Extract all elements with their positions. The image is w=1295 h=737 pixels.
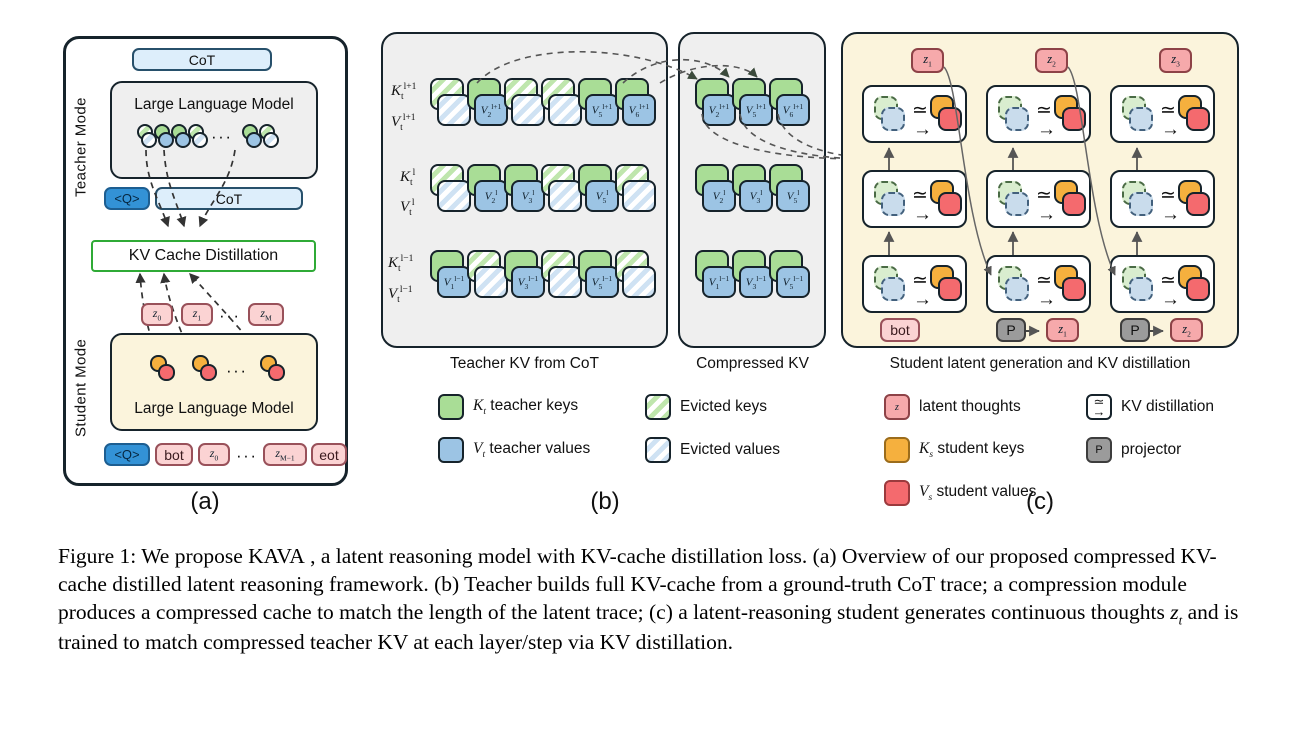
bottom-latent-z0[interactable]: z0 (198, 443, 230, 466)
bot-token-chip[interactable]: bot (155, 443, 193, 466)
teacher-mode-label: Teacher Mode (70, 60, 92, 235)
figure-caption-model-name: KAVA (248, 544, 305, 568)
teacher-value-2 (474, 266, 508, 298)
teacher-row-l: V2l V3l V5l (430, 164, 660, 219)
mini-value-evicted (263, 132, 279, 148)
student-kv-ellipsis: ··· (226, 361, 247, 381)
legend-label-evicted-values: Evicted values (680, 441, 780, 459)
figure-caption-prefix: Figure 1: (58, 544, 136, 568)
compressed-value-5: V5l (776, 180, 810, 212)
legend-swatch-kv-distillation: ≃→ (1086, 394, 1112, 420)
student-mode-label: Student Mode (70, 300, 92, 475)
latent-chip-z1-label: z1 (193, 306, 201, 322)
kv-cache-distillation-label: KV Cache Distillation (129, 247, 278, 265)
legend-swatch-student-values (884, 480, 910, 506)
legend-evicted-values: Evicted values (645, 437, 780, 463)
legend-label-latent-thoughts: latent thoughts (919, 398, 1021, 416)
teacher-llm-title: Large Language Model (110, 96, 318, 114)
student-kv-minirow: ··· (150, 355, 300, 387)
teacher-value-3-label: V3l−1 (518, 274, 539, 291)
legend-label-student-values: Vs student values (919, 483, 1036, 503)
teacher-value-1-label: V1l−1 (444, 274, 465, 291)
legend-swatch-projector: P (1086, 437, 1112, 463)
legend-teacher-keys: Kt teacher keys (438, 394, 578, 420)
compressed-value-5-label: V5l (787, 188, 800, 205)
compressed-value-3: V3l−1 (739, 266, 773, 298)
compressed-value-5: V5l−1 (776, 266, 810, 298)
legend-projector-glyph: P (1095, 444, 1102, 456)
legend-label-teacher-keys: Kt teacher keys (473, 397, 578, 417)
bottom-latent-z0-label: z0 (210, 446, 218, 462)
axis-label-k-lplus1: Ktl+1 (391, 82, 416, 102)
legend-swatch-evicted-values (645, 437, 671, 463)
legend-swatch-teacher-keys (438, 394, 464, 420)
panel-b-letter: (b) (550, 488, 660, 516)
legend-label-projector: projector (1121, 441, 1181, 459)
projector-1-label: P (1006, 322, 1015, 338)
teacher-value-5-label: V5l (596, 188, 609, 205)
compressed-row-lminus1: V1l−1 V3l−1 V5l−1 (695, 250, 815, 305)
cot-top-chip[interactable]: CoT (132, 48, 272, 71)
legend-label-kv-distillation: KV distillation (1121, 398, 1214, 416)
teacher-value-1: V1l−1 (437, 266, 471, 298)
axis-label-v-lplus1: Vtl+1 (391, 113, 416, 133)
axis-label-v-lminus1: Vtl−1 (388, 285, 413, 305)
bottom-latent-zM1[interactable]: zM−1 (263, 443, 307, 466)
latent-chip-zM[interactable]: zM (248, 303, 284, 326)
latent-recurrence-arrows (841, 55, 1239, 315)
legend-swatch-latent-thoughts: z (884, 394, 910, 420)
legend-evicted-keys: Evicted keys (645, 394, 767, 420)
figure-root: Teacher Mode Student Mode CoT Large Lang… (0, 0, 1295, 737)
kv-cache-distillation-box[interactable]: KV Cache Distillation (91, 240, 316, 272)
mini-student-value (268, 364, 285, 381)
compressed-value-3-label: V3l−1 (746, 274, 767, 291)
legend-student-values: Vs student values (884, 480, 1036, 506)
student-bot-label: bot (890, 322, 909, 338)
projected-thought-z2[interactable]: z2 (1170, 318, 1203, 342)
legend-projector: P projector (1086, 437, 1181, 463)
axis-label-v-l: Vtl (400, 198, 414, 218)
projected-thought-z1-label: z1 (1058, 322, 1067, 339)
teacher-value-1 (437, 180, 471, 212)
cot-top-label: CoT (189, 52, 215, 68)
eot-token-label: eot (319, 447, 338, 463)
mini-student-value (158, 364, 175, 381)
latent-chip-zM-label: zM (260, 306, 271, 322)
compressed-value-5-label: V5l−1 (783, 274, 804, 291)
teacher-kv-caption: Teacher KV from CoT (381, 355, 668, 373)
projector-2[interactable]: P (1120, 318, 1150, 342)
latent-chip-z0-label: z0 (153, 306, 161, 322)
teacher-value-6 (622, 180, 656, 212)
compressed-value-2-label: V2l (713, 188, 726, 205)
legend-kvd-glyph: ≃→ (1093, 397, 1106, 417)
axis-label-k-lminus1: Ktl−1 (388, 254, 413, 274)
projected-thought-z2-label: z2 (1182, 322, 1191, 339)
projector-1-arrow (1026, 326, 1046, 336)
compressed-value-3-label: V3l (750, 188, 763, 205)
latent-chip-ellipsis: ··· (219, 306, 240, 326)
latent-chip-z1[interactable]: z1 (181, 303, 213, 326)
compressed-value-1: V1l−1 (702, 266, 736, 298)
legend-latent-thoughts: z latent thoughts (884, 394, 1021, 420)
mini-student-value (200, 364, 217, 381)
teacher-value-3: V3l−1 (511, 266, 545, 298)
legend-latent-glyph: z (895, 402, 899, 413)
bottom-latent-zM1-label: zM−1 (275, 446, 294, 462)
teacher-value-5: V5l−1 (585, 266, 619, 298)
teacher-value-3: V3l (511, 180, 545, 212)
eot-token-chip[interactable]: eot (311, 443, 347, 466)
projector-2-arrow (1150, 326, 1170, 336)
student-bot-token[interactable]: bot (880, 318, 920, 342)
projector-1[interactable]: P (996, 318, 1026, 342)
legend-student-keys: Ks student keys (884, 437, 1024, 463)
teacher-to-distill-arrows (130, 150, 320, 245)
teacher-value-6 (622, 266, 656, 298)
legend-label-student-keys: Ks student keys (919, 440, 1024, 460)
compressed-value-3: V3l (739, 180, 773, 212)
teacher-value-2: V2l (474, 180, 508, 212)
compressed-kv-caption: Compressed KV (670, 355, 835, 373)
teacher-value-5: V5l (585, 180, 619, 212)
latent-chip-z0[interactable]: z0 (141, 303, 173, 326)
teacher-row-lminus1: V1l−1 V3l−1 V5l−1 (430, 250, 660, 305)
legend-swatch-student-keys (884, 437, 910, 463)
teacher-value-5-label: V5l−1 (592, 274, 613, 291)
axis-label-k-l: Ktl (400, 168, 415, 188)
figure-caption: Figure 1: We propose KAVA , a latent rea… (58, 543, 1243, 657)
projector-2-label: P (1130, 322, 1139, 338)
legend-label-teacher-values: Vt teacher values (473, 440, 590, 460)
compressed-value-2: V2l (702, 180, 736, 212)
student-panel-caption: Student latent generation and KV distill… (841, 355, 1239, 373)
teacher-value-4 (548, 180, 582, 212)
teacher-value-4 (548, 266, 582, 298)
bot-token-label: bot (164, 447, 183, 463)
legend-teacher-values: Vt teacher values (438, 437, 590, 463)
teacher-kv-ellipsis: ··· (211, 127, 232, 147)
figure-caption-math-z: z (1170, 600, 1178, 624)
legend-kv-distillation: ≃→ KV distillation (1086, 394, 1214, 420)
teacher-value-2-label: V2l (485, 188, 498, 205)
compressed-value-1-label: V1l−1 (709, 274, 730, 291)
figure-caption-text-1: We propose (136, 544, 248, 568)
student-llm-title: Large Language Model (110, 400, 318, 418)
mini-value-evicted (192, 132, 208, 148)
projected-thought-z1[interactable]: z1 (1046, 318, 1079, 342)
panel-a-letter: (a) (150, 488, 260, 516)
query-chip-student[interactable]: <Q> (104, 443, 150, 466)
teacher-value-3-label: V3l (522, 188, 535, 205)
legend-swatch-evicted-keys (645, 394, 671, 420)
legend-label-evicted-keys: Evicted keys (680, 398, 767, 416)
bottom-token-ellipsis: ··· (236, 446, 257, 466)
query-chip-student-label: <Q> (114, 447, 139, 462)
legend-swatch-teacher-values (438, 437, 464, 463)
